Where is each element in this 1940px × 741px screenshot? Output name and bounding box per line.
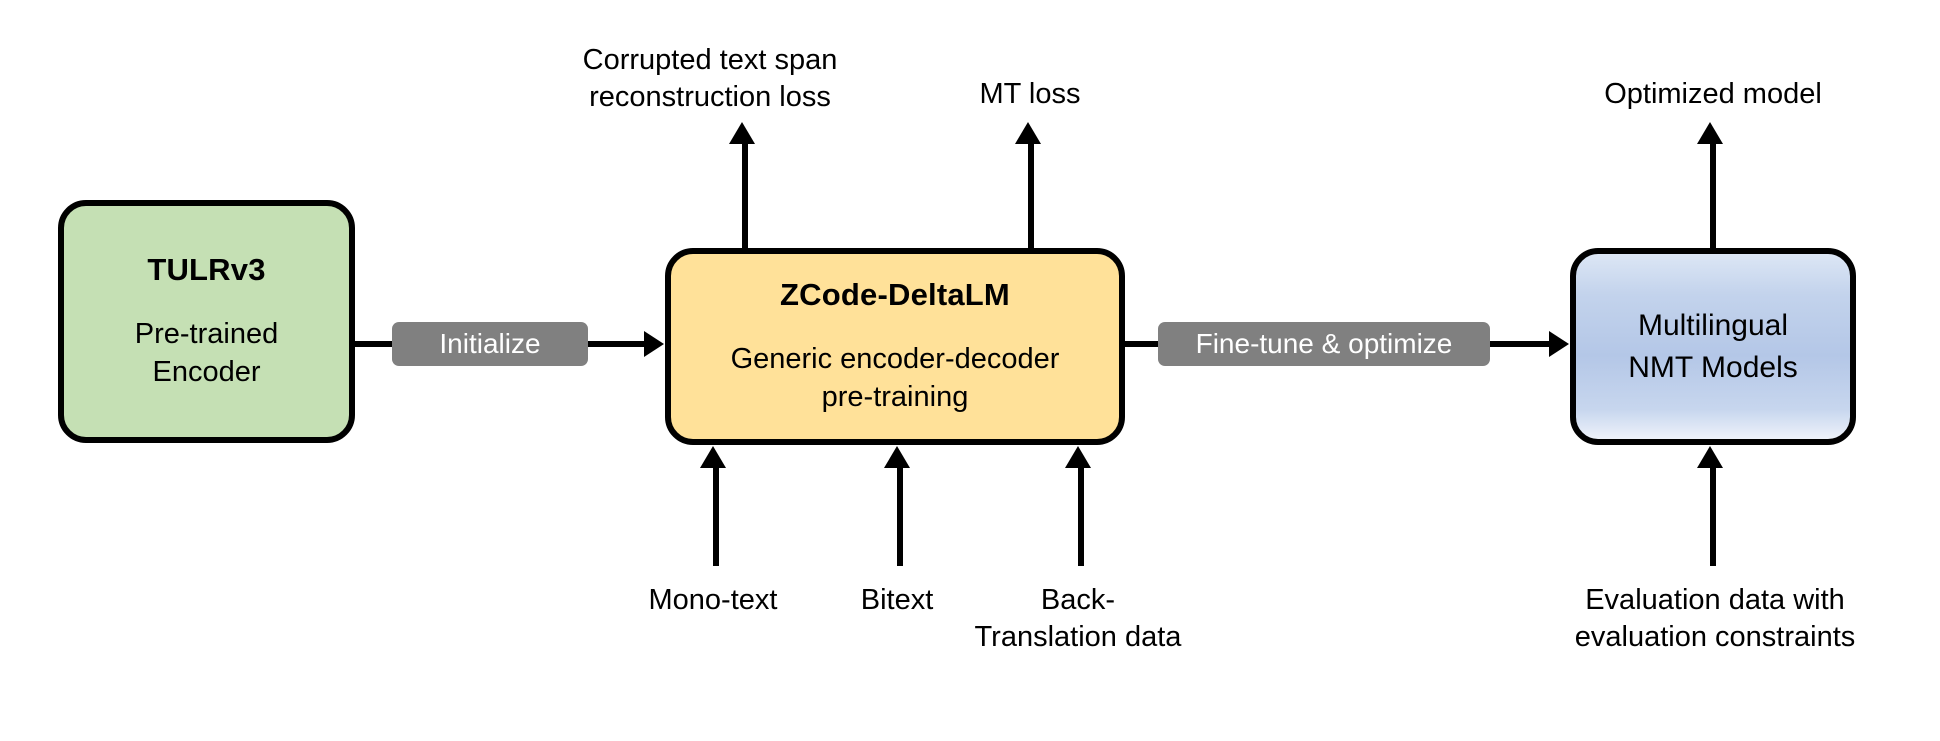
node-tulrv3-title: TULRv3 <box>147 251 265 290</box>
edge-label-finetune-optimize[interactable]: Fine-tune & optimize <box>1158 322 1490 366</box>
node-zcode-deltalm-subtitle: Generic encoder-decoder pre-training <box>731 341 1060 416</box>
node-zcode-deltalm-title: ZCode-DeltaLM <box>780 276 1010 315</box>
edge-initialize-line-right <box>588 341 644 347</box>
edge-finetune-arrowhead <box>1549 331 1569 357</box>
edge-bitext-to-zcode-stem <box>897 468 903 566</box>
edge-nmt-to-optimized-model-stem <box>1710 142 1716 250</box>
edge-zcode-to-corrupted-loss-arrowhead <box>729 122 755 144</box>
edge-initialize-arrowhead <box>644 331 664 357</box>
edge-label-initialize[interactable]: Initialize <box>392 322 588 366</box>
input-label-evaluation-data: Evaluation data with evaluation constrai… <box>1545 582 1885 656</box>
edge-evaluation-data-to-nmt-stem <box>1710 468 1716 566</box>
output-label-optimized-model: Optimized model <box>1570 76 1856 113</box>
edge-bitext-to-zcode-arrowhead <box>884 446 910 468</box>
edge-mono-text-to-zcode-stem <box>713 468 719 566</box>
node-multilingual-nmt-models-subtitle: Multilingual NMT Models <box>1628 305 1797 388</box>
edge-zcode-to-corrupted-loss-stem <box>742 142 748 250</box>
node-zcode-deltalm[interactable]: ZCode-DeltaLM Generic encoder-decoder pr… <box>665 248 1125 445</box>
output-label-mt-loss: MT loss <box>880 76 1180 113</box>
edge-nmt-to-optimized-model-arrowhead <box>1697 122 1723 144</box>
edge-back-translation-to-zcode-arrowhead <box>1065 446 1091 468</box>
input-label-mono-text: Mono-text <box>593 582 833 619</box>
edge-finetune-line-right <box>1490 341 1550 347</box>
edge-mono-text-to-zcode-arrowhead <box>700 446 726 468</box>
node-tulrv3[interactable]: TULRv3 Pre-trained Encoder <box>58 200 355 443</box>
edge-evaluation-data-to-nmt-arrowhead <box>1697 446 1723 468</box>
edge-zcode-to-mt-loss-arrowhead <box>1015 122 1041 144</box>
node-multilingual-nmt-models[interactable]: Multilingual NMT Models <box>1570 248 1856 445</box>
edge-back-translation-to-zcode-stem <box>1078 468 1084 566</box>
diagram-canvas: Corrupted text span reconstruction loss … <box>0 0 1940 741</box>
output-label-corrupted-loss: Corrupted text span reconstruction loss <box>500 42 920 116</box>
edge-initialize-line-left <box>355 341 395 347</box>
node-tulrv3-subtitle: Pre-trained Encoder <box>135 316 278 391</box>
input-label-back-translation: Back- Translation data <box>960 582 1196 656</box>
edge-zcode-to-mt-loss-stem <box>1028 142 1034 250</box>
